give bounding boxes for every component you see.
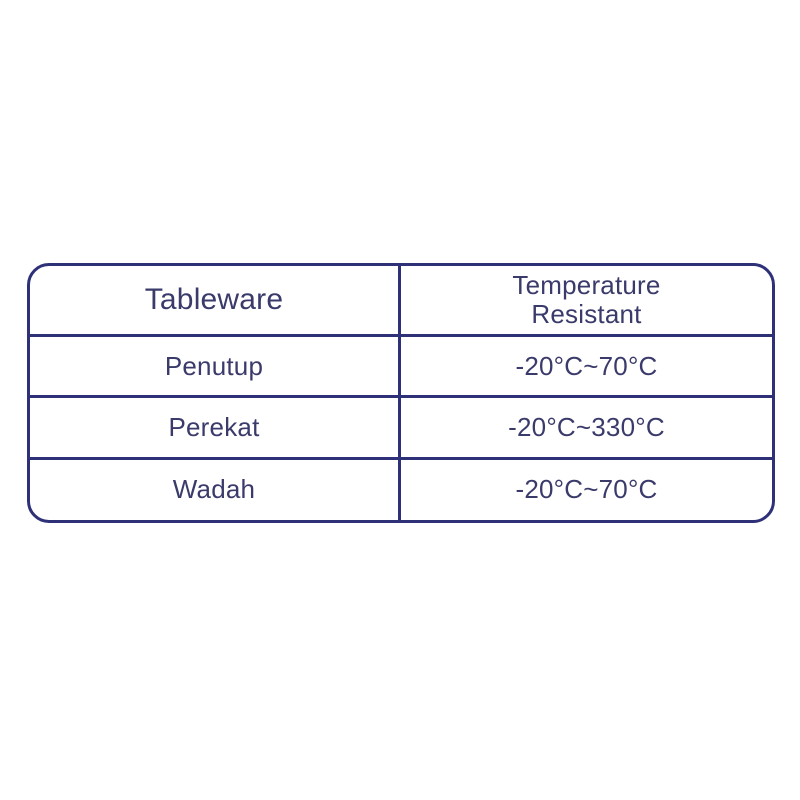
column-header-tableware: Tableware [30,266,401,334]
screenshot-canvas: Tableware Temperature Resistant Penutup … [0,0,800,800]
cell-temperature-perekat: -20°C~330°C [401,398,772,456]
table-row: Perekat -20°C~330°C [30,398,772,459]
table-row: Penutup -20°C~70°C [30,337,772,398]
cell-tableware-penutup-text: Penutup [165,352,263,381]
tableware-temperature-table: Tableware Temperature Resistant Penutup … [27,263,775,523]
cell-temperature-penutup: -20°C~70°C [401,337,772,395]
column-header-tableware-label: Tableware [145,283,284,317]
cell-temperature-wadah-text: -20°C~70°C [515,475,657,504]
table-row: Wadah -20°C~70°C [30,460,772,520]
cell-temperature-penutup-text: -20°C~70°C [515,352,657,381]
cell-tableware-perekat-text: Perekat [168,413,259,442]
cell-tableware-perekat: Perekat [30,398,401,456]
cell-tableware-penutup: Penutup [30,337,401,395]
table-header-row: Tableware Temperature Resistant [30,266,772,337]
cell-tableware-wadah-text: Wadah [173,475,255,504]
column-header-temperature-resistant: Temperature Resistant [401,266,772,334]
cell-tableware-wadah: Wadah [30,460,401,520]
column-header-temperature-resistant-label: Temperature Resistant [512,271,660,329]
cell-temperature-wadah: -20°C~70°C [401,460,772,520]
cell-temperature-perekat-text: -20°C~330°C [508,413,665,442]
